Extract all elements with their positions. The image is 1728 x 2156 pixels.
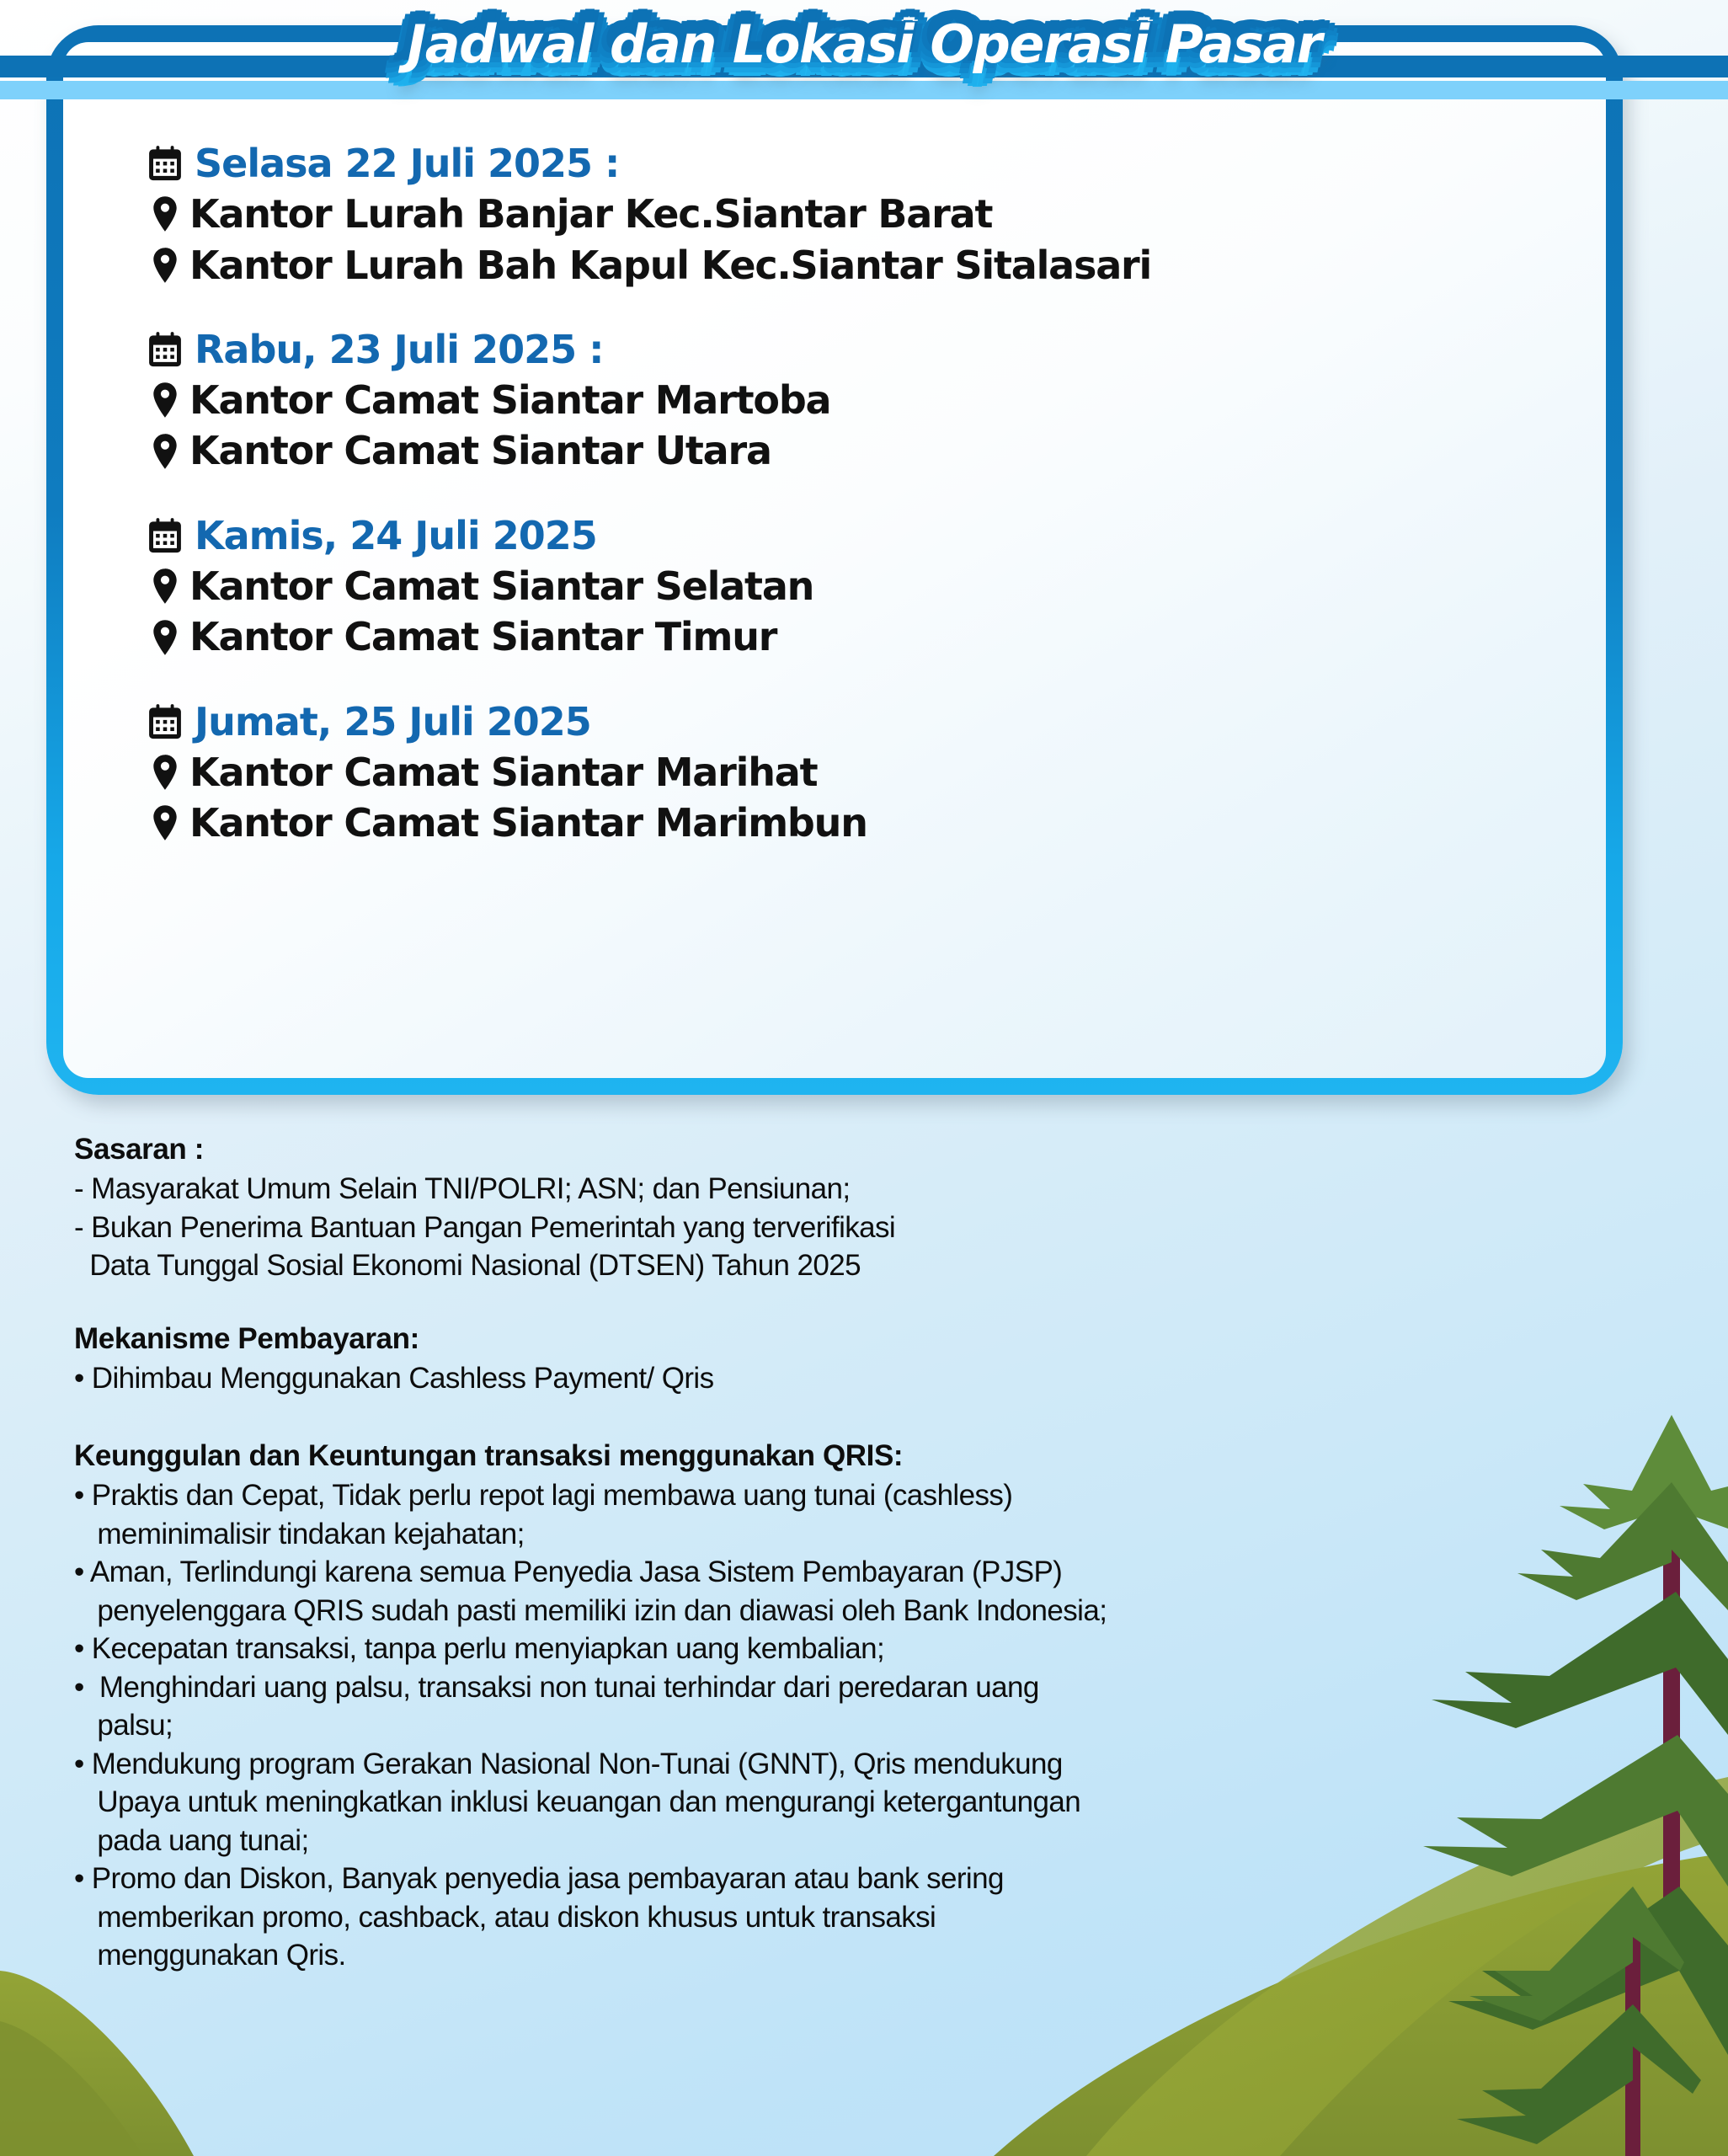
schedule-day-header: Jumat, 25 Juli 2025 xyxy=(147,702,1528,742)
spacer xyxy=(74,1397,1556,1439)
keunggulan-item: • Mendukung program Gerakan Nasional Non… xyxy=(74,1745,1556,1784)
calendar-icon xyxy=(147,703,183,740)
schedule-location: Kantor Camat Siantar Timur xyxy=(189,616,776,657)
calendar-icon xyxy=(147,331,183,368)
map-pin-icon xyxy=(152,804,178,841)
schedule-day: Jumat, 25 Juli 2025 Kantor Camat Siantar… xyxy=(147,702,1528,844)
map-pin-icon xyxy=(152,382,178,419)
sasaran-item: - Masyarakat Umum Selain TNI/POLRI; ASN;… xyxy=(74,1170,1556,1209)
card-body: Selasa 22 Juli 2025 : Kantor Lurah Banja… xyxy=(63,42,1606,1078)
schedule-location: Kantor Camat Siantar Marimbun xyxy=(189,803,867,843)
map-pin-icon xyxy=(152,247,178,284)
keunggulan-item: • Kecepatan transaksi, tanpa perlu menyi… xyxy=(74,1630,1556,1668)
schedule-day-date: Kamis, 24 Juli 2025 xyxy=(195,515,597,556)
keunggulan-item: • Praktis dan Cepat, Tidak perlu repot l… xyxy=(74,1476,1556,1515)
mekanisme-item: • Dihimbau Menggunakan Cashless Payment/… xyxy=(74,1359,1556,1398)
sasaran-heading: Sasaran : xyxy=(74,1133,1556,1166)
details-section: Sasaran : - Masyarakat Umum Selain TNI/P… xyxy=(74,1133,1556,1975)
schedule-day: Kamis, 24 Juli 2025 Kantor Camat Siantar… xyxy=(147,515,1528,658)
keunggulan-item: penyelenggara QRIS sudah pasti memiliki … xyxy=(74,1592,1556,1630)
poster-title-badge: Jadwal dan Lokasi Operasi Pasar xyxy=(378,10,1350,87)
calendar-icon xyxy=(147,517,183,554)
schedule-day-header: Selasa 22 Juli 2025 : xyxy=(147,143,1528,184)
schedule-day-date: Jumat, 25 Juli 2025 xyxy=(195,702,591,742)
keunggulan-item: • Menghindari uang palsu, transaksi non … xyxy=(74,1668,1556,1707)
keunggulan-heading: Keunggulan dan Keuntungan transaksi meng… xyxy=(74,1439,1556,1473)
schedule-location: Kantor Camat Siantar Selatan xyxy=(189,566,813,606)
keunggulan-item: menggunakan Qris. xyxy=(74,1936,1556,1975)
schedule-list: Selasa 22 Juli 2025 : Kantor Lurah Banja… xyxy=(147,143,1528,844)
mekanisme-heading: Mekanisme Pembayaran: xyxy=(74,1322,1556,1356)
map-pin-icon xyxy=(152,433,178,470)
page-title: Jadwal dan Lokasi Operasi Pasar xyxy=(407,13,1321,75)
schedule-location-row: Kantor Lurah Bah Kapul Kec.Siantar Sital… xyxy=(147,245,1528,286)
spacer xyxy=(74,1285,1556,1322)
schedule-day: Selasa 22 Juli 2025 : Kantor Lurah Banja… xyxy=(147,143,1528,286)
calendar-icon xyxy=(147,145,183,182)
keunggulan-item: pada uang tunai; xyxy=(74,1822,1556,1860)
schedule-location-row: Kantor Lurah Banjar Kec.Siantar Barat xyxy=(147,194,1528,234)
schedule-location-row: Kantor Camat Siantar Martoba xyxy=(147,380,1528,420)
sasaran-item: - Bukan Penerima Bantuan Pangan Pemerint… xyxy=(74,1209,1556,1247)
sasaran-item: Data Tunggal Sosial Ekonomi Nasional (DT… xyxy=(74,1246,1556,1285)
keunggulan-item: meminimalisir tindakan kejahatan; xyxy=(74,1515,1556,1554)
map-pin-icon xyxy=(152,195,178,232)
schedule-location-row: Kantor Camat Siantar Selatan xyxy=(147,566,1528,606)
schedule-day-date: Selasa 22 Juli 2025 : xyxy=(195,143,619,184)
schedule-location-row: Kantor Camat Siantar Timur xyxy=(147,616,1528,657)
schedule-day-date: Rabu, 23 Juli 2025 : xyxy=(195,329,604,370)
keunggulan-item: palsu; xyxy=(74,1706,1556,1745)
keunggulan-item: Upaya untuk meningkatkan inklusi keuanga… xyxy=(74,1783,1556,1822)
map-pin-icon xyxy=(152,568,178,605)
schedule-day: Rabu, 23 Juli 2025 : Kantor Camat Sianta… xyxy=(147,329,1528,472)
schedule-day-header: Rabu, 23 Juli 2025 : xyxy=(147,329,1528,370)
schedule-location: Kantor Camat Siantar Utara xyxy=(189,430,771,471)
schedule-card: Selasa 22 Juli 2025 : Kantor Lurah Banja… xyxy=(46,25,1623,1095)
map-pin-icon xyxy=(152,754,178,791)
schedule-location-row: Kantor Camat Siantar Marihat xyxy=(147,752,1528,792)
keunggulan-item: • Aman, Terlindungi karena semua Penyedi… xyxy=(74,1553,1556,1592)
schedule-location-row: Kantor Camat Siantar Utara xyxy=(147,430,1528,471)
map-pin-icon xyxy=(152,619,178,656)
keunggulan-item: • Promo dan Diskon, Banyak penyedia jasa… xyxy=(74,1860,1556,1898)
schedule-location: Kantor Lurah Bah Kapul Kec.Siantar Sital… xyxy=(189,245,1151,286)
schedule-location: Kantor Camat Siantar Martoba xyxy=(189,380,830,420)
schedule-location-row: Kantor Camat Siantar Marimbun xyxy=(147,803,1528,843)
keunggulan-item: memberikan promo, cashback, atau diskon … xyxy=(74,1898,1556,1937)
schedule-day-header: Kamis, 24 Juli 2025 xyxy=(147,515,1528,556)
schedule-location: Kantor Lurah Banjar Kec.Siantar Barat xyxy=(189,194,992,234)
schedule-location: Kantor Camat Siantar Marihat xyxy=(189,752,817,792)
